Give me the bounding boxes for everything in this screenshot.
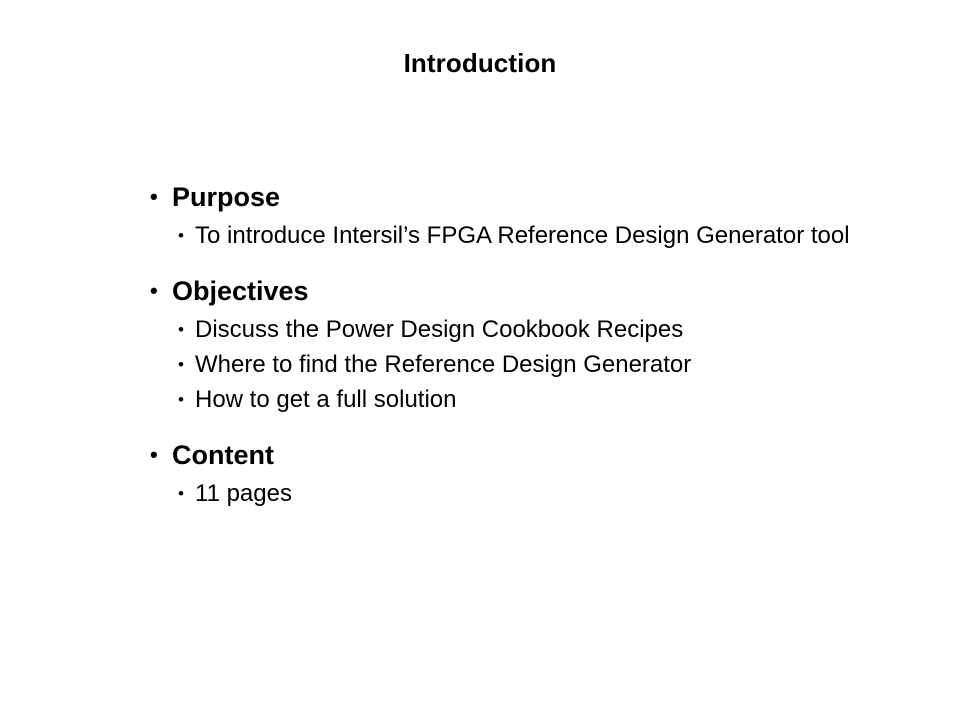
list-item: • 11 pages [150,478,850,510]
list-item-label: Where to find the Reference Design Gener… [195,349,850,381]
bullet-icon: • [178,478,184,510]
bullet-icon: • [178,349,184,381]
list-item: • To introduce Intersil’s FPGA Reference… [150,220,850,252]
outline-sublist-content: • 11 pages [150,478,850,510]
outline-heading-label: Content [172,440,274,470]
bullet-icon: • [178,220,184,252]
outline-heading-label: Purpose [172,182,280,212]
list-item: • Discuss the Power Design Cookbook Reci… [150,314,850,346]
list-item-label: To introduce Intersil’s FPGA Reference D… [195,220,850,252]
bullet-icon: • [178,314,184,346]
list-item-label: How to get a full solution [195,384,850,416]
outline-heading-objectives: • Objectives [150,274,850,308]
outline-heading-content: • Content [150,438,850,472]
bullet-icon: • [150,438,158,472]
list-item-label: 11 pages [195,478,850,510]
outline-sublist-objectives: • Discuss the Power Design Cookbook Reci… [150,314,850,416]
bullet-icon: • [178,384,184,416]
outline-group-objectives: • Objectives • Discuss the Power Design … [150,274,850,416]
outline-heading-label: Objectives [172,276,309,306]
outline-sublist-purpose: • To introduce Intersil’s FPGA Reference… [150,220,850,252]
list-item: • Where to find the Reference Design Gen… [150,349,850,381]
outline-heading-purpose: • Purpose [150,180,850,214]
bullet-icon: • [150,180,158,214]
slide-body-outline: • Purpose • To introduce Intersil’s FPGA… [150,180,850,510]
outline-group-purpose: • Purpose • To introduce Intersil’s FPGA… [150,180,850,252]
list-item-label: Discuss the Power Design Cookbook Recipe… [195,314,850,346]
list-item: • How to get a full solution [150,384,850,416]
slide-title: Introduction [0,48,960,78]
bullet-icon: • [150,274,158,308]
outline-group-content: • Content • 11 pages [150,438,850,510]
presentation-slide: Introduction • Purpose • To introduce In… [0,0,960,720]
